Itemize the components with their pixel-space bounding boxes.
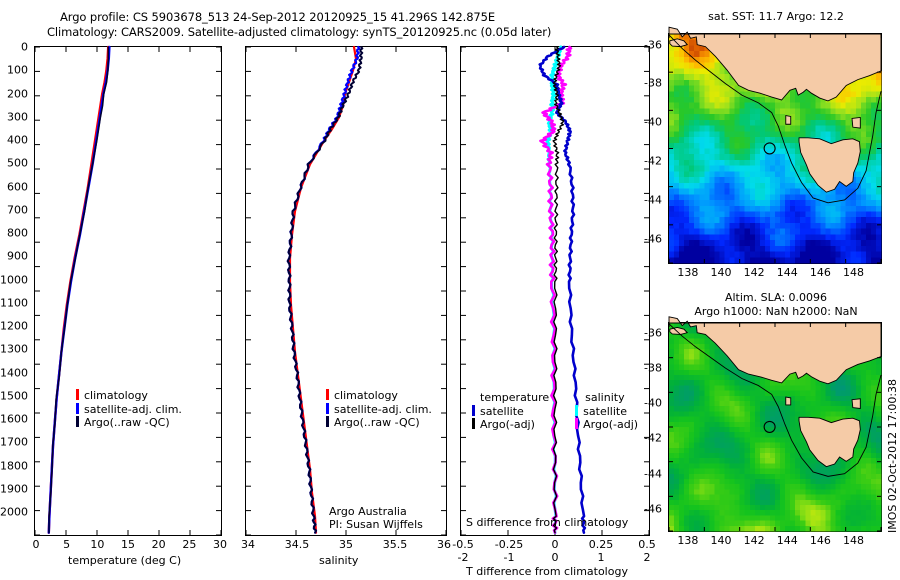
axis-tick-label: 138 [677,266,698,279]
legend-item: Argo(-adj) [575,418,638,432]
axis-tick-label: 900 [7,250,28,263]
axis-tick-label: 34.5 [285,538,310,551]
legend-swatch-temperature-argo [472,418,475,429]
flinders-island-landmass [852,117,860,128]
axis-tick-label: 140 [711,266,732,279]
king-island-landmass [786,116,791,125]
axis-tick-label: 34 [241,538,255,551]
legend-label: Argo(-adj) [480,418,535,431]
legend-label: satellite-adj. clim. [84,403,182,416]
axis-tick-label: -40 [644,397,662,410]
page-title-line1: Argo profile: CS 5903678_513 24-Sep-2012… [60,10,495,24]
axis-tick-label: 146 [810,266,831,279]
axis-tick-label: 140 [711,534,732,547]
axis-tick-label: 100 [7,64,28,77]
legend-label: satellite [583,405,627,418]
legend-column-title: temperature [472,391,549,405]
legend-label: Argo(-adj) [583,418,638,431]
axis-tick-label: 144 [777,534,798,547]
legend-label: satellite [480,405,524,418]
legend-swatch-climatology [326,389,329,400]
legend-item: satellite [472,405,549,419]
axis-tick-label: -44 [644,193,662,206]
axis-tick-label: 5 [63,538,70,551]
difference-s-axis-ticks: -0.5-0.2500.250.5 [460,538,650,551]
axis-tick-label: 0.25 [589,538,614,551]
axis-tick-label: 25 [182,538,196,551]
principal-investigator-credit: PI: Susan Wijffels [329,518,423,531]
axis-tick-label: -42 [644,432,662,445]
axis-tick-label: -36 [644,38,662,51]
axis-tick-label: 1400 [0,366,28,379]
sst-map-y-ticks: -36-38-40-42-44-46 [636,33,666,264]
legend-label: Argo(..raw -QC) [334,416,420,429]
sla-map-panel [668,322,882,532]
axis-tick-label: 36 [437,538,451,551]
temperature-legend: climatology satellite-adj. clim. Argo(..… [76,389,182,430]
axis-tick-label: -46 [644,502,662,515]
imos-timestamp: IMOS 02-Oct-2012 17:00:38 [886,533,900,546]
axis-tick-label: 20 [152,538,166,551]
axis-tick-label: 148 [843,534,864,547]
axis-tick-label: 0 [552,538,559,551]
axis-tick-label: 148 [843,266,864,279]
axis-tick-label: -46 [644,232,662,245]
axis-tick-label: 142 [744,534,765,547]
legend-item: satellite-adj. clim. [326,403,432,417]
legend-swatch-temperature-satellite [472,405,475,416]
axis-tick-label: -38 [644,77,662,90]
axis-tick-label: 138 [677,534,698,547]
axis-tick-label: 1200 [0,320,28,333]
flinders-island-landmass [852,399,860,409]
axis-tick-label: -1 [504,551,515,564]
temperature-x-axis-ticks: 051015202530 [34,538,222,552]
sla-map-y-ticks: -36-38-40-42-44-46 [636,322,666,532]
legend-label: climatology [334,389,398,402]
difference-s-axis-label: S difference from climatology [466,516,628,529]
salinity-axis-label: salinity [319,554,358,567]
axis-tick-label: -40 [644,116,662,129]
legend-swatch-salinity-satellite [575,405,578,416]
legend-item: satellite [575,405,638,419]
temperature-panel [34,46,222,536]
axis-tick-label: 35.5 [383,538,408,551]
axis-tick-label: 500 [7,157,28,170]
axis-tick-label: 200 [7,87,28,100]
argo-australia-credit: Argo Australia [329,505,407,518]
sst-map-x-ticks: 138140142144146148 [668,266,882,280]
axis-tick-label: 1100 [0,296,28,309]
axis-tick-label: 700 [7,203,28,216]
axis-tick-label: 0 [21,41,28,54]
axis-tick-label: 400 [7,134,28,147]
difference-t-axis-ticks: -2-1012 [460,551,650,564]
difference-legend-temperature-column: temperature satellite Argo(-adj) [472,391,549,432]
sla-map-title-line1: Altim. SLA: 0.0096 [666,291,886,304]
axis-tick-label: 0 [552,551,559,564]
axis-tick-label: 15 [121,538,135,551]
axis-tick-label: -0.25 [495,538,523,551]
axis-tick-label: 0 [33,538,40,551]
axis-tick-label: 1000 [0,273,28,286]
legend-column-title: salinity [575,391,638,405]
legend-swatch-argo-raw [326,416,329,427]
axis-tick-label: 1700 [0,436,28,449]
sst-map-panel [668,33,882,264]
axis-tick-label: -0.5 [452,538,473,551]
sla-map-title-line2: Argo h1000: NaN h2000: NaN [666,305,886,318]
axis-tick-label: 2 [644,551,651,564]
legend-swatch-salinity-argo [575,418,578,429]
axis-tick-label: -38 [644,361,662,374]
temperature-axis-label: temperature (deg C) [68,554,181,567]
difference-panel [460,46,650,536]
legend-swatch-climatology [76,389,79,400]
legend-item: Argo(..raw -QC) [326,416,432,430]
axis-tick-label: 1300 [0,343,28,356]
salinity-legend: climatology satellite-adj. clim. Argo(..… [326,389,432,430]
axis-tick-label: 1800 [0,459,28,472]
king-island-landmass [786,397,791,405]
legend-swatch-argo-raw [76,416,79,427]
salinity-x-axis-ticks: 3434.53535.536 [245,538,447,552]
sla-map-x-ticks: 138140142144146148 [668,534,882,548]
legend-label: Argo(..raw -QC) [84,416,170,429]
legend-item: climatology [76,389,182,403]
axis-tick-label: 142 [744,266,765,279]
legend-swatch-satellite-adj [76,403,79,414]
axis-tick-label: 10 [90,538,104,551]
legend-item: satellite-adj. clim. [76,403,182,417]
axis-tick-label: 1600 [0,413,28,426]
legend-label: satellite-adj. clim. [334,403,432,416]
axis-tick-label: 2000 [0,506,28,519]
sst-map-title: sat. SST: 11.7 Argo: 12.2 [666,10,886,23]
axis-tick-label: 300 [7,110,28,123]
axis-tick-label: 1500 [0,389,28,402]
temperature-y-axis-ticks: 0100200300400500600700800900100011001200… [0,46,32,536]
axis-tick-label: 800 [7,227,28,240]
axis-tick-label: 144 [777,266,798,279]
axis-tick-label: -42 [644,155,662,168]
axis-tick-label: -2 [458,551,469,564]
axis-tick-label: 600 [7,180,28,193]
axis-tick-label: 0.5 [638,538,656,551]
difference-legend: temperature satellite Argo(-adj) salinit… [472,391,638,432]
axis-tick-label: -36 [644,326,662,339]
axis-tick-label: 146 [810,534,831,547]
axis-tick-label: 1900 [0,482,28,495]
legend-item: climatology [326,389,432,403]
legend-item: Argo(-adj) [472,418,549,432]
axis-tick-label: 30 [213,538,227,551]
axis-tick-label: 35 [339,538,353,551]
difference-t-axis-label: T difference from climatology [466,565,628,578]
legend-swatch-satellite-adj [326,403,329,414]
legend-label: climatology [84,389,148,402]
imos-timestamp-text: IMOS 02-Oct-2012 17:00:38 [886,379,899,533]
difference-legend-salinity-column: salinity satellite Argo(-adj) [575,391,638,432]
salinity-panel [245,46,447,536]
legend-item: Argo(..raw -QC) [76,416,182,430]
page-title-line2: Climatology: CARS2009. Satellite-adjuste… [47,25,551,39]
axis-tick-label: -44 [644,467,662,480]
axis-tick-label: 1 [598,551,605,564]
